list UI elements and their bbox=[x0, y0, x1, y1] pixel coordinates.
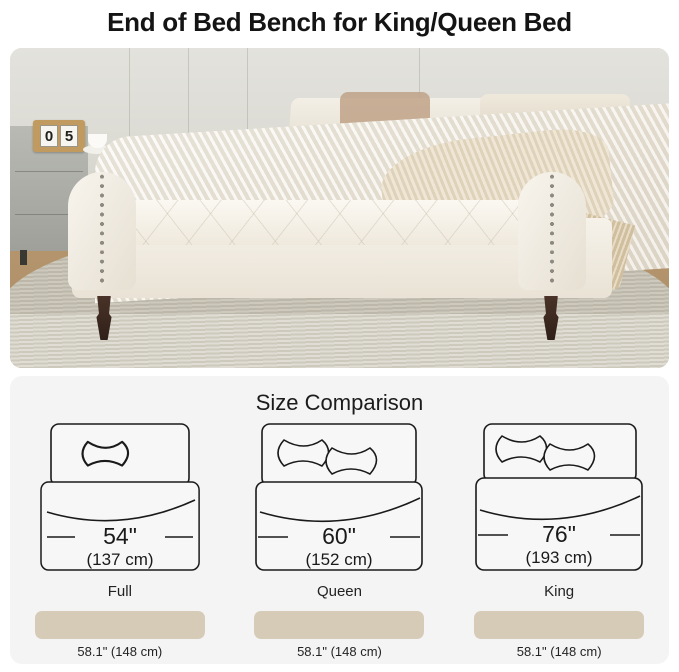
bed-diagrams-row: 54" (137 cm) Full 58.1" (148 cm) bbox=[10, 420, 669, 659]
bed-name-queen: Queen bbox=[317, 583, 362, 600]
bed-diagram-king: 76" (193 cm) bbox=[474, 420, 644, 580]
bed-width-inches-queen: 60" bbox=[323, 523, 357, 549]
size-comparison-panel: Size Comparison 54" (137 cm) Full bbox=[10, 376, 669, 664]
bed-name-king: King bbox=[544, 583, 574, 600]
bed-diagram-full: 54" (137 cm) bbox=[35, 420, 205, 580]
page-title: End of Bed Bench for King/Queen Bed bbox=[0, 0, 679, 44]
nailhead-trim-icon bbox=[68, 172, 136, 290]
bench-bar-queen bbox=[254, 611, 424, 639]
size-comparison-heading: Size Comparison bbox=[10, 390, 669, 416]
bed-width-cm-queen: (152 cm) bbox=[306, 550, 373, 569]
bench-bar-full bbox=[35, 611, 205, 639]
bed-width-inches-king: 76" bbox=[542, 521, 576, 547]
bed-column-queen: 60" (152 cm) Queen 58.1" (148 cm) bbox=[246, 420, 432, 659]
bed-column-full: 54" (137 cm) Full 58.1" (148 cm) bbox=[27, 420, 213, 659]
drawer-divider bbox=[15, 171, 84, 172]
product-hero-photo: 0 5 bbox=[10, 48, 669, 368]
bench-size-full: 58.1" (148 cm) bbox=[77, 644, 162, 659]
bench-arm-right bbox=[518, 172, 586, 290]
flip-clock: 0 5 bbox=[33, 120, 85, 152]
bench-size-queen: 58.1" (148 cm) bbox=[297, 644, 382, 659]
bench-arm-left bbox=[68, 172, 136, 290]
bed-diagram-queen: 60" (152 cm) bbox=[254, 420, 424, 580]
nailhead-trim-icon bbox=[518, 172, 586, 290]
bed-column-king: 76" (193 cm) King 58.1" (148 cm) bbox=[466, 420, 652, 659]
bench-size-king: 58.1" (148 cm) bbox=[517, 644, 602, 659]
bed-width-inches-full: 54" bbox=[103, 523, 137, 549]
bed-width-cm-full: (137 cm) bbox=[86, 550, 153, 569]
nightstand-leg bbox=[20, 250, 27, 265]
clock-digit-hour: 0 bbox=[40, 125, 58, 147]
bench-bar-king bbox=[474, 611, 644, 639]
bed-name-full: Full bbox=[108, 583, 132, 600]
bed-width-cm-king: (193 cm) bbox=[526, 548, 593, 567]
clock-digit-minute: 5 bbox=[60, 125, 78, 147]
bench-tufted-seat bbox=[105, 200, 575, 245]
